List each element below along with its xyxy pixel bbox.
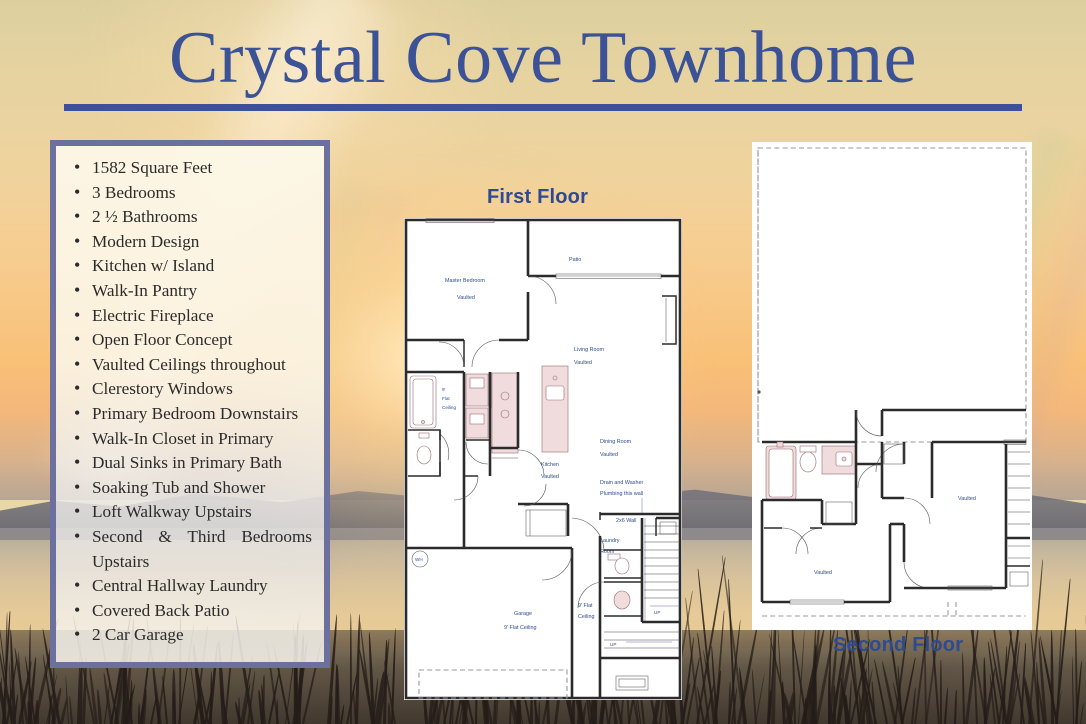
svg-text:Garage: Garage [514, 611, 532, 617]
grass-blade [35, 700, 39, 724]
first-floor-floorplan: Master Bedroom Vaulted Patio Living Room… [404, 218, 682, 700]
grass-blade [954, 690, 957, 724]
feature-item: Central Hallway Laundry [66, 574, 316, 599]
features-panel: 1582 Square Feet3 Bedrooms2 ½ BathroomsM… [50, 140, 330, 668]
feature-item: Covered Back Patio [66, 599, 316, 624]
svg-text:Vaulted: Vaulted [814, 570, 832, 576]
header: Crystal Cove Townhome [0, 16, 1086, 100]
svg-text:Drain and Washer: Drain and Washer [600, 480, 643, 486]
feature-item: 3 Bedrooms [66, 181, 316, 206]
feature-item: Walk-In Pantry [66, 279, 316, 304]
feature-item: Kitchen w/ Island [66, 254, 316, 279]
feature-item: Clerestory Windows [66, 377, 316, 402]
feature-item: Primary Bedroom Downstairs [66, 402, 316, 427]
grass-blade [833, 684, 836, 724]
svg-text:Kitchen: Kitchen [541, 462, 559, 468]
svg-text:Master Bedroom: Master Bedroom [445, 278, 485, 284]
svg-text:9': 9' [442, 387, 446, 392]
svg-text:Flat: Flat [442, 396, 450, 401]
feature-item: Loft Walkway Upstairs [66, 500, 316, 525]
svg-text:Vaulted: Vaulted [457, 295, 475, 301]
grass-blade [944, 687, 949, 724]
feature-list: 1582 Square Feet3 Bedrooms2 ½ BathroomsM… [66, 156, 316, 648]
svg-text:Vaulted: Vaulted [574, 360, 592, 366]
grass-blade [873, 659, 887, 724]
feature-item: Soaking Tub and Shower [66, 476, 316, 501]
feature-item: Electric Fireplace [66, 304, 316, 329]
svg-text:Patio: Patio [569, 257, 581, 263]
grass-blade [452, 696, 454, 724]
grass-blade [962, 652, 965, 724]
svg-text:9' Flat: 9' Flat [578, 603, 593, 609]
svg-text:Vaulted: Vaulted [600, 452, 618, 458]
svg-text:Ceiling: Ceiling [578, 614, 594, 620]
feature-item: Open Floor Concept [66, 328, 316, 353]
svg-text:Vaulted: Vaulted [958, 496, 976, 502]
feature-item: 1582 Square Feet [66, 156, 316, 181]
svg-text:Living Room: Living Room [574, 347, 604, 353]
grass-blade [340, 704, 345, 724]
svg-text:Plumbing this wall: Plumbing this wall [600, 491, 643, 497]
feature-item: Vaulted Ceilings throughout [66, 353, 316, 378]
title-underline [64, 104, 1022, 111]
second-floor-floorplan: Vaulted Vaulted [752, 142, 1032, 630]
first-floor-title: First Floor [487, 186, 588, 209]
feature-item: 2 Car Garage [66, 623, 316, 648]
svg-text:WH: WH [415, 557, 423, 562]
grass-blade [1072, 656, 1075, 724]
feature-item: Dual Sinks in Primary Bath [66, 451, 316, 476]
svg-text:Dining Room: Dining Room [600, 439, 632, 445]
svg-text:9' Flat Ceiling: 9' Flat Ceiling [504, 625, 537, 631]
svg-text:UP: UP [610, 642, 616, 647]
svg-text:2x6 Wall: 2x6 Wall [616, 518, 636, 524]
page-title: Crystal Cove Townhome [0, 16, 1086, 100]
svg-text:Vaulted: Vaulted [541, 474, 559, 480]
grass-blade [97, 689, 102, 724]
grass-blade [391, 629, 397, 724]
svg-text:Ceiling: Ceiling [442, 405, 456, 410]
svg-text:UP: UP [654, 610, 660, 615]
feature-item: 2 ½ Bathrooms [66, 205, 316, 230]
grass-blade [751, 669, 757, 724]
feature-item: Walk-In Closet in Primary [66, 427, 316, 452]
grass-blade [940, 660, 942, 724]
grass-blade [1080, 702, 1084, 724]
second-floor-title: Second Floor [833, 634, 963, 657]
feature-item: Second & Third Bedrooms Upstairs [66, 525, 316, 574]
grass-blade [755, 672, 765, 724]
feature-item: Modern Design [66, 230, 316, 255]
